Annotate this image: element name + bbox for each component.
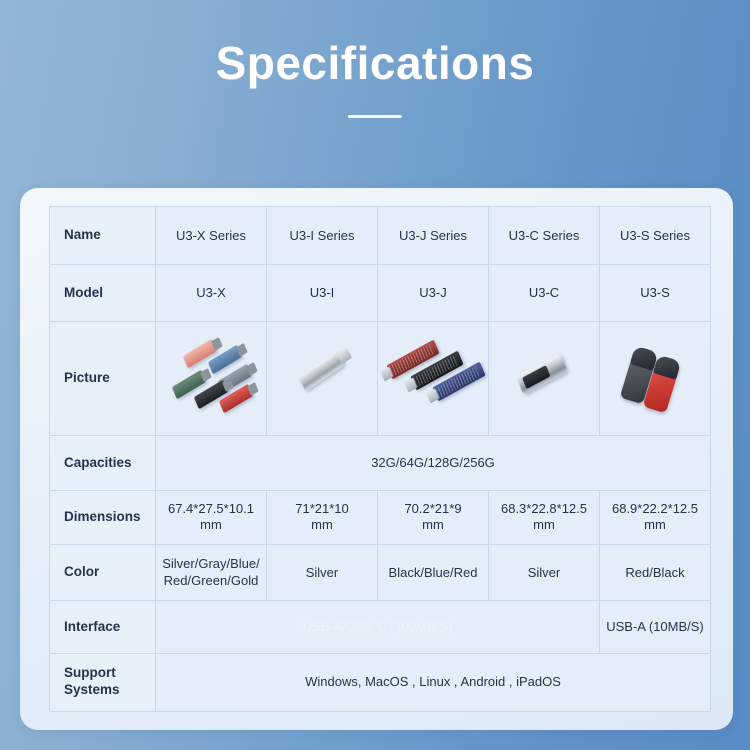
dimensions-u3c-value: 68.3*22.8*12.5: [501, 501, 587, 516]
cell-picture-u3c: [489, 321, 600, 436]
product-image-u3x: [156, 326, 266, 432]
cell-model-u3i: U3-I: [267, 265, 378, 321]
cell-capacities-all: 32G/64G/128G/256G: [156, 436, 711, 490]
table-row-color: Color Silver/Gray/Blue/ Red/Green/Gold S…: [50, 544, 711, 600]
cell-picture-u3i: [267, 321, 378, 436]
cell-dimensions-u3c: 68.3*22.8*12.5 mm: [489, 490, 600, 544]
cell-picture-u3x: [156, 321, 267, 436]
page-header: Specifications: [0, 0, 750, 118]
dimensions-u3x-value: 67.4*27.5*10.1: [168, 501, 254, 516]
row-label-name: Name: [50, 207, 156, 265]
dimensions-u3j-unit: mm: [422, 517, 444, 532]
cell-support-systems-all: Windows, MacOS , Linux , Android , iPadO…: [156, 653, 711, 711]
cell-name-u3c: U3-C Series: [489, 207, 600, 265]
cell-color-u3x: Silver/Gray/Blue/ Red/Green/Gold: [156, 544, 267, 600]
dimensions-u3s-value: 68.9*22.2*12.5: [612, 501, 698, 516]
support-label-line2: Systems: [64, 682, 120, 697]
cell-model-u3s: U3-S: [600, 265, 711, 321]
row-label-model: Model: [50, 265, 156, 321]
usb-drive-silver-slider: [516, 352, 568, 394]
row-label-picture: Picture: [50, 321, 156, 436]
row-label-interface: Interface: [50, 601, 156, 653]
cell-model-u3c: U3-C: [489, 265, 600, 321]
dimensions-u3s-unit: mm: [644, 517, 666, 532]
cell-name-u3x: U3-X Series: [156, 207, 267, 265]
row-label-dimensions: Dimensions: [50, 490, 156, 544]
table-row-interface: Interface USB-A/USB-C (100MB/S) USB-A (1…: [50, 601, 711, 653]
cell-model-u3x: U3-X: [156, 265, 267, 321]
product-image-u3j: [378, 326, 488, 432]
cell-color-u3c: Silver: [489, 544, 600, 600]
row-label-support-systems: Support Systems: [50, 653, 156, 711]
dimensions-u3c-unit: mm: [533, 517, 555, 532]
cell-color-u3s: Red/Black: [600, 544, 711, 600]
usb-capsule-cap-red: [653, 354, 682, 379]
cell-name-u3s: U3-S Series: [600, 207, 711, 265]
product-image-u3c: [489, 326, 599, 432]
product-image-u3s: [600, 326, 710, 432]
cell-dimensions-u3s: 68.9*22.2*12.5 mm: [600, 490, 711, 544]
table-row-model: Model U3-X U3-I U3-J U3-C U3-S: [50, 265, 711, 321]
specifications-table: Name U3-X Series U3-I Series U3-J Series…: [49, 206, 711, 712]
cell-name-u3i: U3-I Series: [267, 207, 378, 265]
dimensions-u3x-unit: mm: [200, 517, 222, 532]
cell-color-u3i: Silver: [267, 544, 378, 600]
support-label-line1: Support: [64, 665, 116, 680]
cell-dimensions-u3x: 67.4*27.5*10.1 mm: [156, 490, 267, 544]
row-label-capacities: Capacities: [50, 436, 156, 490]
table-row-dimensions: Dimensions 67.4*27.5*10.1 mm 71*21*10 mm…: [50, 490, 711, 544]
usb-drive-silver-slim: [298, 350, 344, 391]
specifications-card: Name U3-X Series U3-I Series U3-J Series…: [20, 188, 733, 730]
table-row-capacities: Capacities 32G/64G/128G/256G: [50, 436, 711, 490]
table-row-picture: Picture: [50, 321, 711, 436]
color-u3x-line1: Silver/Gray/Blue/: [162, 556, 260, 571]
table-row-support-systems: Support Systems Windows, MacOS , Linux ,…: [50, 653, 711, 711]
cell-picture-u3j: [378, 321, 489, 436]
dimensions-u3i-value: 71*21*10: [295, 501, 349, 516]
row-label-color: Color: [50, 544, 156, 600]
table-row-name: Name U3-X Series U3-I Series U3-J Series…: [50, 207, 711, 265]
cell-interface-usb-a: USB-A (10MB/S): [600, 601, 711, 653]
cell-name-u3j: U3-J Series: [378, 207, 489, 265]
title-divider-rule: [348, 115, 402, 118]
cell-dimensions-u3j: 70.2*21*9 mm: [378, 490, 489, 544]
cell-model-u3j: U3-J: [378, 265, 489, 321]
cell-color-u3j: Black/Blue/Red: [378, 544, 489, 600]
page-title: Specifications: [0, 38, 750, 89]
usb-slider-thumb: [522, 365, 550, 389]
cell-interface-usb-a-usb-c: USB-A/USB-C (100MB/S): [156, 601, 600, 653]
cell-dimensions-u3i: 71*21*10 mm: [267, 490, 378, 544]
product-image-u3i: [267, 326, 377, 432]
cell-picture-u3s: [600, 321, 711, 436]
color-u3x-line2: Red/Green/Gold: [164, 573, 259, 588]
dimensions-u3j-value: 70.2*21*9: [404, 501, 461, 516]
dimensions-u3i-unit: mm: [311, 517, 333, 532]
